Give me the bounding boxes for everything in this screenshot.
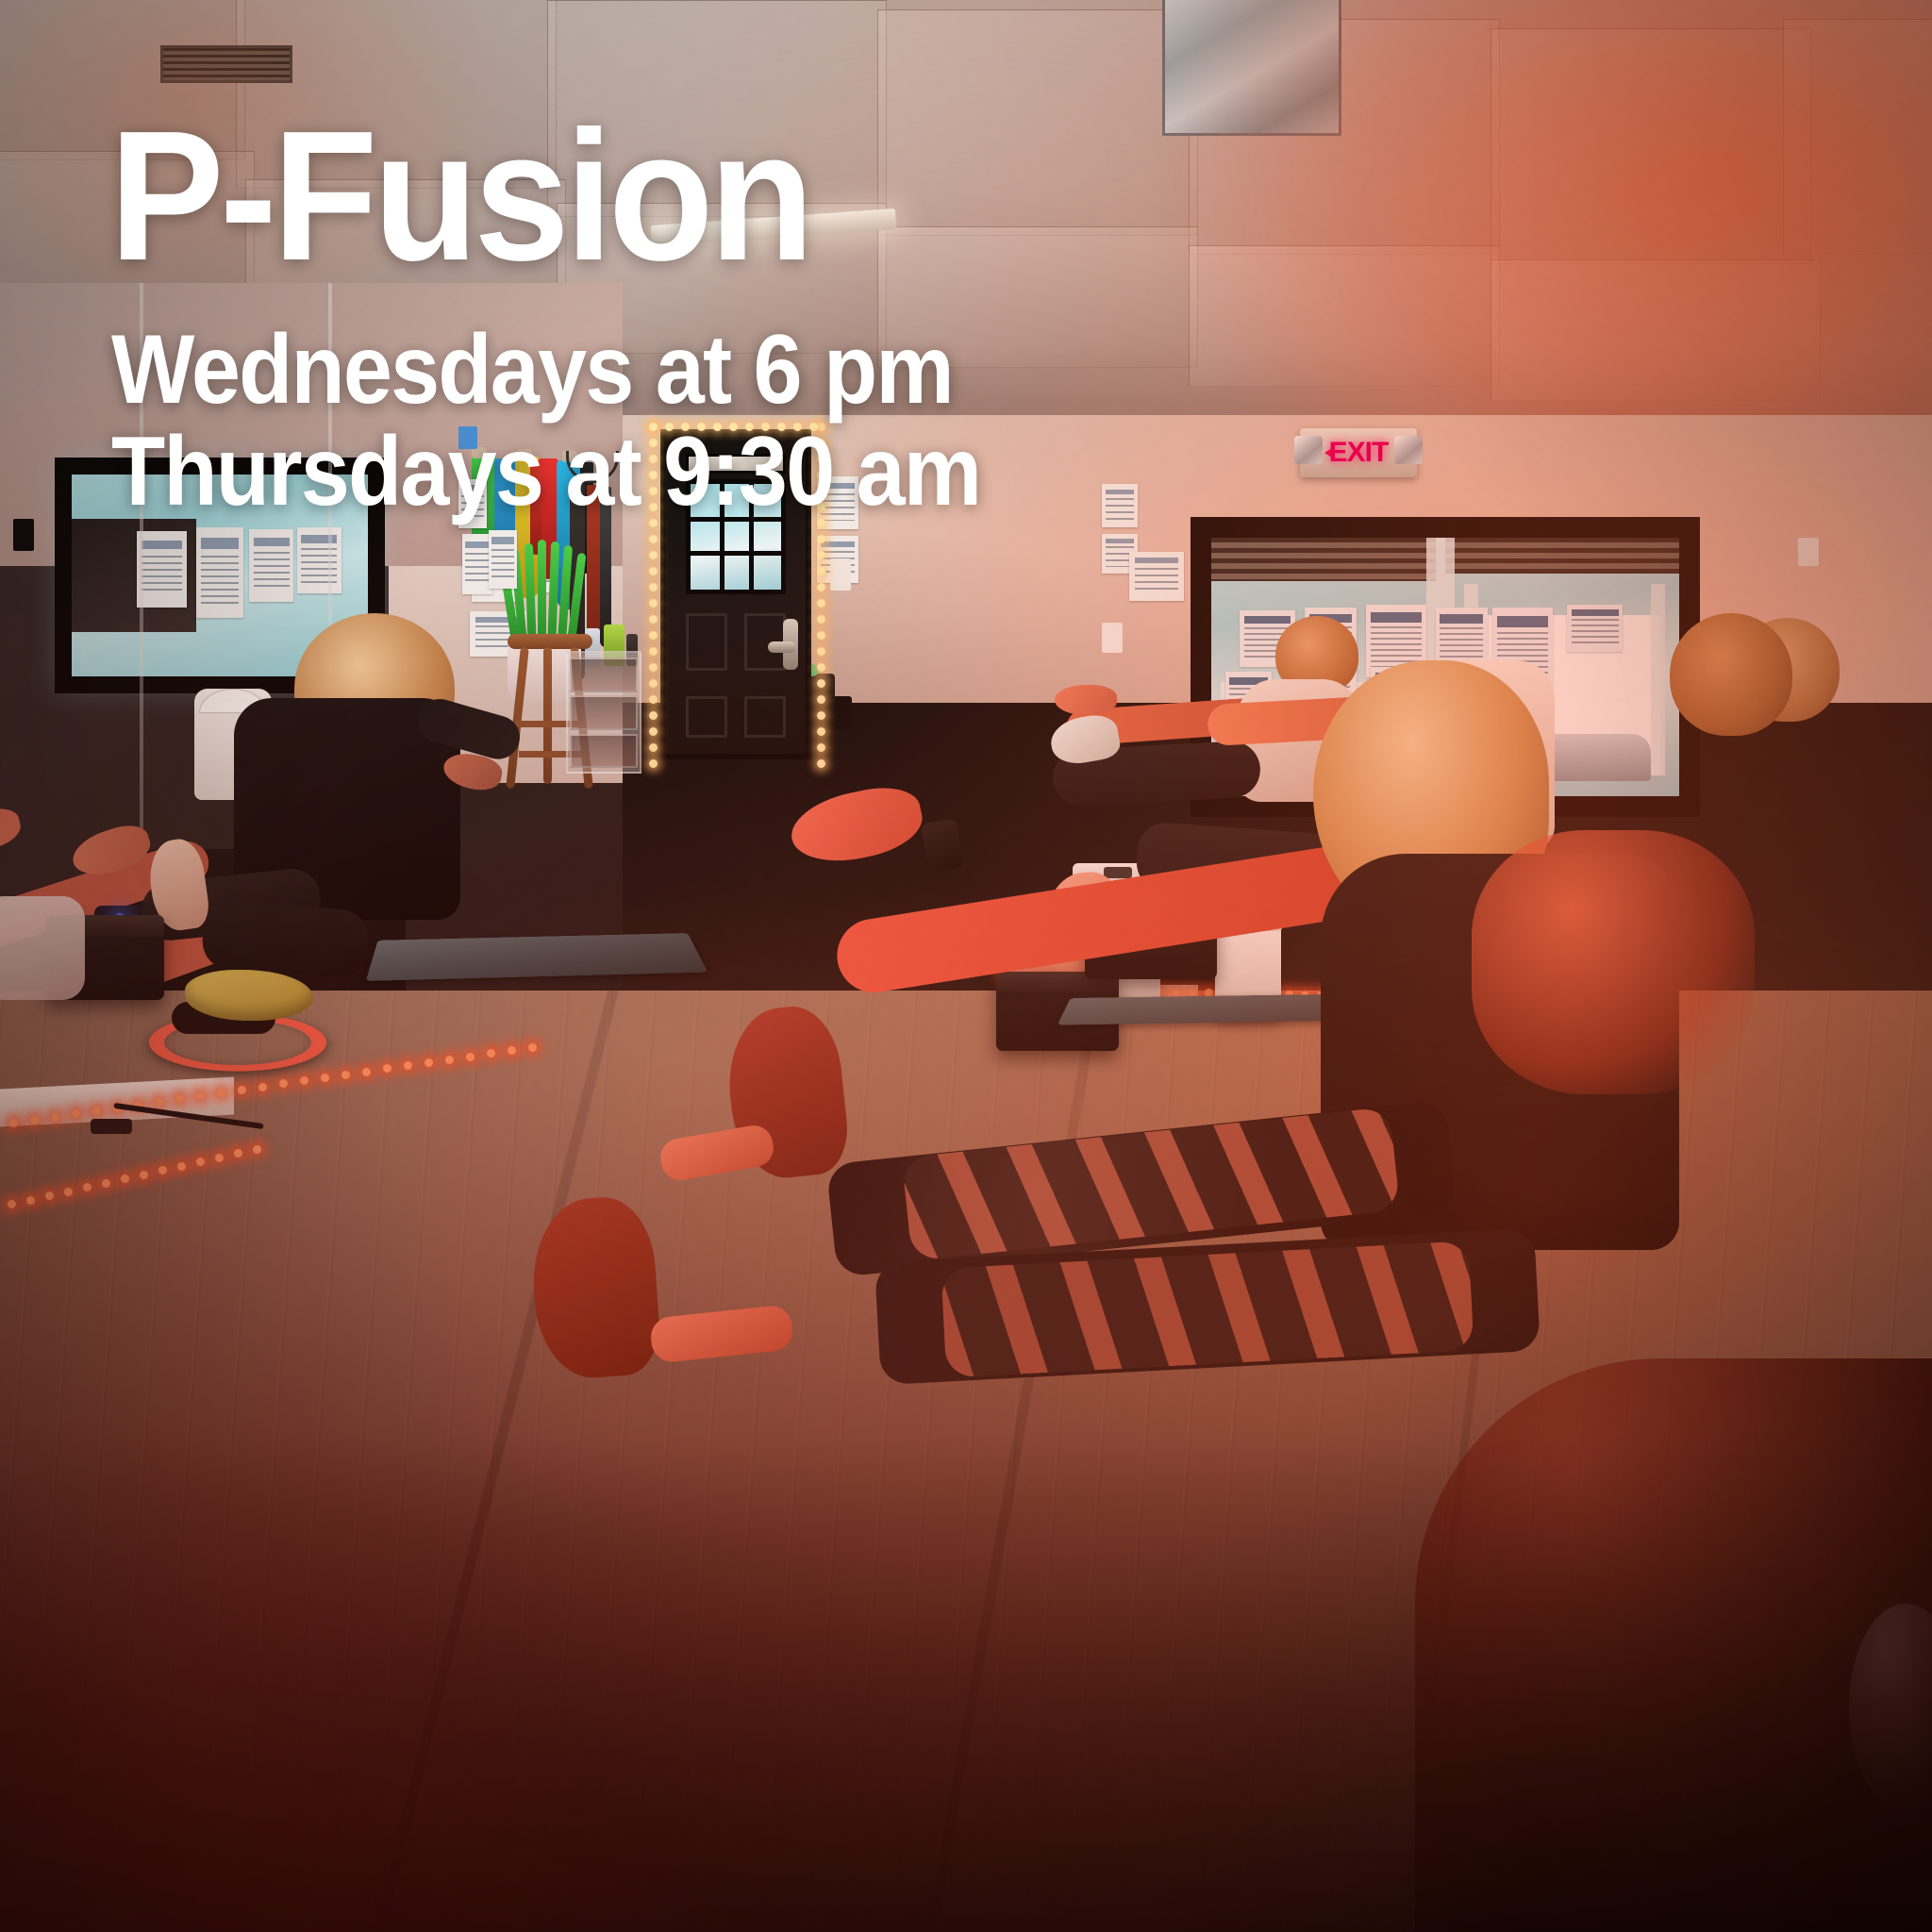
string-light-bulb	[51, 1113, 59, 1122]
string-light-bulb	[649, 759, 658, 768]
string-light-bulb	[102, 1179, 110, 1188]
string-light-bulb	[817, 695, 825, 704]
string-light-bulb	[649, 599, 658, 608]
string-light-bulb	[649, 615, 658, 624]
string-light-bulb	[445, 1056, 454, 1064]
string-light-bulb	[817, 663, 825, 672]
string-light-bulb	[26, 1196, 35, 1205]
string-light-bulb	[158, 1166, 167, 1174]
string-light-bulb	[817, 503, 825, 511]
string-light-bulb	[817, 471, 825, 479]
string-light-bulb	[341, 1071, 350, 1079]
string-light-bulb	[649, 711, 658, 720]
string-light-bulb	[649, 551, 658, 559]
exit-sign: EXIT	[1300, 428, 1417, 477]
string-light-bulb	[817, 583, 825, 591]
string-light-bulb	[83, 1183, 92, 1191]
string-light-bulb	[466, 1053, 475, 1061]
string-light-bulb	[649, 439, 658, 447]
string-light-bulb	[745, 423, 754, 431]
string-light-bulb	[649, 663, 658, 672]
string-light-bulb	[649, 455, 658, 463]
string-light-bulb	[817, 599, 825, 608]
string-light-bulb	[729, 423, 738, 431]
string-light-bulb	[649, 487, 658, 495]
string-light-bulb	[362, 1068, 371, 1076]
string-light-bulb	[9, 1119, 18, 1127]
string-light-bulb	[817, 551, 825, 559]
string-light-bulb	[155, 1098, 163, 1107]
string-light-bulb	[1189, 988, 1197, 996]
storage-drawers	[566, 651, 641, 774]
string-light-bulb	[649, 695, 658, 704]
string-light-bulb	[649, 567, 658, 575]
string-light-bulb	[649, 743, 658, 752]
string-light-bulb	[649, 503, 658, 511]
string-light-bulb	[196, 1158, 205, 1166]
exit-sign-label: EXIT	[1329, 437, 1389, 469]
participant-extra-hair	[1670, 613, 1792, 736]
string-light-bulb	[528, 1043, 537, 1052]
studio-door[interactable]	[660, 429, 811, 759]
door-handle[interactable]	[783, 619, 798, 670]
string-light-bulb	[793, 423, 802, 431]
right-light-switch[interactable]	[1102, 623, 1123, 653]
string-light-bulb	[8, 1200, 16, 1208]
string-light-bulb	[817, 727, 825, 736]
string-light-bulb	[234, 1149, 242, 1158]
string-light-bulb	[809, 423, 818, 431]
promo-graphic: EXIT	[0, 0, 1932, 1932]
string-light-bulb	[649, 423, 658, 431]
string-light-bulb	[761, 423, 770, 431]
string-light-bulb	[258, 1083, 267, 1091]
string-light-bulb	[321, 1074, 329, 1082]
string-light-bulb	[649, 647, 658, 656]
string-light-bulb	[649, 679, 658, 688]
string-light-bulb	[817, 743, 825, 752]
string-light-bulb	[697, 423, 706, 431]
power-adapter	[91, 1119, 132, 1134]
door-window	[686, 479, 787, 594]
string-light-bulb	[649, 535, 658, 543]
small-sign-icon	[458, 426, 477, 449]
string-light-bulb	[64, 1188, 73, 1196]
string-light-bulb	[425, 1058, 433, 1067]
string-light-bulb	[817, 567, 825, 575]
string-light-bulb	[215, 1154, 224, 1162]
string-light-bulb	[817, 759, 825, 768]
string-light-bulb	[30, 1116, 39, 1124]
string-light-bulb	[817, 631, 825, 640]
string-light-bulb	[649, 727, 658, 736]
folded-cloth	[0, 896, 85, 1000]
string-light-bulb	[817, 711, 825, 720]
string-light-bulb	[253, 1145, 261, 1154]
string-light-bulb	[121, 1174, 129, 1183]
string-light-bulb	[817, 679, 825, 688]
string-light-bulb	[649, 519, 658, 527]
string-light-bulb	[238, 1086, 246, 1094]
string-light-bulb	[681, 423, 690, 431]
string-light-bulb	[649, 471, 658, 479]
string-light-bulb	[817, 615, 825, 624]
string-light-bulb	[649, 583, 658, 591]
string-light-bulb	[217, 1089, 225, 1097]
string-light-bulb	[649, 631, 658, 640]
string-light-bulb	[1173, 988, 1181, 996]
string-light-bulb	[817, 519, 825, 527]
string-light-bulb	[45, 1191, 54, 1200]
thermostat[interactable]	[1798, 538, 1819, 566]
string-light-bulb	[777, 423, 786, 431]
string-light-bulb	[713, 423, 722, 431]
string-light-bulb	[665, 423, 674, 431]
light-switch[interactable]	[830, 558, 851, 591]
string-light-bulb	[817, 647, 825, 656]
string-light-bulb	[817, 535, 825, 543]
string-light-bulb	[140, 1171, 148, 1179]
studio-photo: EXIT	[0, 0, 1932, 1932]
string-light-bulb	[817, 455, 825, 463]
string-light-bulb	[817, 439, 825, 447]
string-light-bulb	[177, 1162, 186, 1171]
wall-outlet	[827, 696, 852, 730]
string-light-bulb	[817, 487, 825, 495]
string-light-bulb	[817, 423, 825, 431]
